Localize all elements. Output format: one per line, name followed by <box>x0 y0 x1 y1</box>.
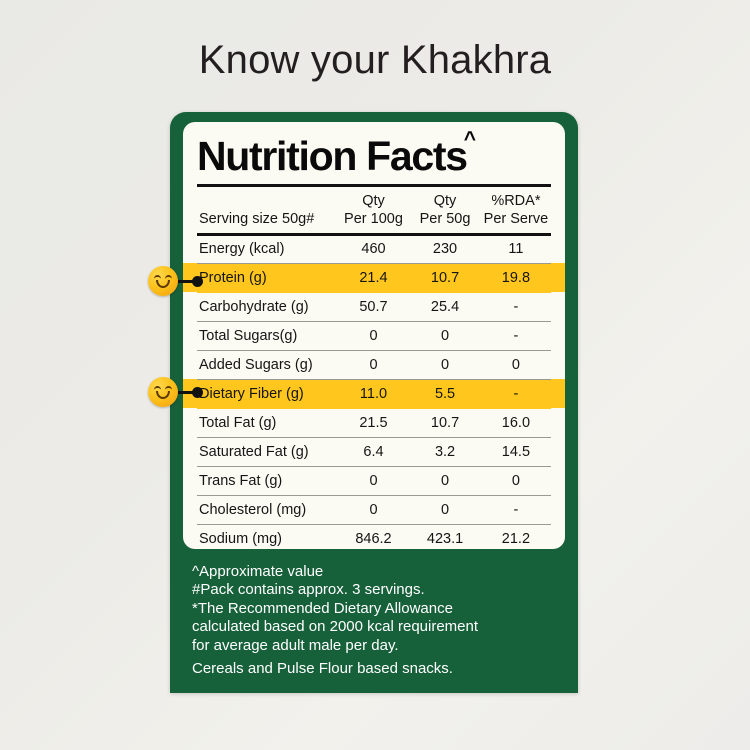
table-row: Carbohydrate (g)50.725.4- <box>197 292 551 321</box>
table-body: Energy (kcal)46023011Protein (g)21.410.7… <box>197 234 551 549</box>
nutrient-value-per-100g: 0 <box>338 495 410 524</box>
serving-size-header: Serving size 50g# <box>197 187 338 234</box>
nutrient-value-per-100g: 21.5 <box>338 408 410 437</box>
nutrient-value-per-100g: 0 <box>338 466 410 495</box>
table-head: Serving size 50g# Qty Per 100g Qty Per 5… <box>197 187 551 234</box>
nutrition-facts-heading: Nutrition Facts^ <box>197 122 551 177</box>
heading-superscript: ^ <box>464 128 476 151</box>
table-row: Sodium (mg)846.2423.121.2 <box>197 524 551 549</box>
emoji-eye-left <box>154 386 161 390</box>
nutrient-value-per-50g: 3.2 <box>409 437 481 466</box>
column-header-per-50g-line2: Per 50g <box>420 211 471 227</box>
footnote-line: *The Recommended Dietary Allowance <box>192 600 564 618</box>
footnote-line: calculated based on 2000 kcal requiremen… <box>192 618 564 636</box>
nutrient-value-rda: 0 <box>481 350 551 379</box>
table-row: Total Fat (g)21.510.716.0 <box>197 408 551 437</box>
nutrient-value-per-50g: 0 <box>409 321 481 350</box>
nutrient-value-rda: - <box>481 321 551 350</box>
column-header-per-100g-line2: Per 100g <box>344 211 403 227</box>
nutrient-value-per-100g: 21.4 <box>338 263 410 292</box>
footnote-line: ^Approximate value <box>192 563 564 581</box>
nutrient-name: Carbohydrate (g) <box>197 292 338 321</box>
callout-connector-dot <box>192 276 203 287</box>
nutrient-value-rda: 19.8 <box>481 263 551 292</box>
nutrient-value-per-100g: 11.0 <box>338 379 410 408</box>
smiling-face-icon <box>148 266 178 296</box>
nutrient-value-per-50g: 25.4 <box>409 292 481 321</box>
column-header-per-50g-line1: Qty <box>409 193 481 211</box>
nutrient-value-per-100g: 846.2 <box>338 524 410 549</box>
emoji-eye-left <box>154 275 161 279</box>
nutrient-name: Dietary Fiber (g) <box>197 379 338 408</box>
page-title: Know your Khakhra <box>0 38 750 83</box>
nutrient-value-rda: - <box>481 495 551 524</box>
footnote-line: #Pack contains approx. 3 servings. <box>192 581 564 599</box>
callout-connector-dot <box>192 387 203 398</box>
footnotes-block: ^Approximate value#Pack contains approx.… <box>192 563 564 679</box>
emoji-mouth <box>156 280 170 288</box>
nutrient-value-per-50g: 0 <box>409 466 481 495</box>
nutrient-value-rda: - <box>481 379 551 408</box>
nutrient-value-per-100g: 0 <box>338 321 410 350</box>
nutrient-value-per-100g: 460 <box>338 234 410 263</box>
column-header-per-100g: Qty Per 100g <box>338 187 410 234</box>
footnote-line: for average adult male per day. <box>192 637 564 655</box>
table-row: Trans Fat (g)000 <box>197 466 551 495</box>
table-header-row: Serving size 50g# Qty Per 100g Qty Per 5… <box>197 187 551 234</box>
nutrient-name: Sodium (mg) <box>197 524 338 549</box>
column-header-per-100g-line1: Qty <box>338 193 410 211</box>
nutrient-name: Total Fat (g) <box>197 408 338 437</box>
footnote-line: Cereals and Pulse Flour based snacks. <box>192 660 564 678</box>
column-header-rda-line1: %RDA* <box>481 193 551 211</box>
nutrient-name: Added Sugars (g) <box>197 350 338 379</box>
table-row: Total Sugars(g)00- <box>197 321 551 350</box>
smiling-face-icon <box>148 377 178 407</box>
nutrient-value-rda: 16.0 <box>481 408 551 437</box>
nutrition-facts-table: Serving size 50g# Qty Per 100g Qty Per 5… <box>197 187 551 549</box>
nutrient-value-rda: 0 <box>481 466 551 495</box>
emoji-mouth <box>156 391 170 399</box>
nutrient-value-rda: - <box>481 292 551 321</box>
column-header-rda-line2: Per Serve <box>484 211 548 227</box>
emoji-eye-right <box>165 386 172 390</box>
nutrient-name: Cholesterol (mg) <box>197 495 338 524</box>
nutrition-facts-heading-text: Nutrition Facts <box>197 133 467 179</box>
table-row: Protein (g)21.410.719.8 <box>197 263 551 292</box>
nutrient-value-per-50g: 0 <box>409 350 481 379</box>
nutrition-facts-panel: Nutrition Facts^ Serving size 50g# Qty P… <box>183 122 565 549</box>
nutrient-value-per-50g: 0 <box>409 495 481 524</box>
nutrient-name: Protein (g) <box>197 263 338 292</box>
nutrient-value-per-100g: 50.7 <box>338 292 410 321</box>
nutrient-name: Trans Fat (g) <box>197 466 338 495</box>
nutrient-value-per-50g: 5.5 <box>409 379 481 408</box>
column-header-per-50g: Qty Per 50g <box>409 187 481 234</box>
callout-fiber <box>148 377 203 407</box>
table-row: Cholesterol (mg)00- <box>197 495 551 524</box>
nutrient-value-per-50g: 423.1 <box>409 524 481 549</box>
nutrient-value-rda: 11 <box>481 234 551 263</box>
nutrient-value-per-50g: 230 <box>409 234 481 263</box>
callout-protein <box>148 266 203 296</box>
table-row: Added Sugars (g)000 <box>197 350 551 379</box>
nutrient-value-per-100g: 0 <box>338 350 410 379</box>
table-row: Energy (kcal)46023011 <box>197 234 551 263</box>
nutrient-value-per-100g: 6.4 <box>338 437 410 466</box>
nutrient-value-per-50g: 10.7 <box>409 263 481 292</box>
nutrient-name: Total Sugars(g) <box>197 321 338 350</box>
nutrient-name: Saturated Fat (g) <box>197 437 338 466</box>
nutrient-value-rda: 14.5 <box>481 437 551 466</box>
emoji-eye-right <box>165 275 172 279</box>
nutrient-value-rda: 21.2 <box>481 524 551 549</box>
nutrient-name: Energy (kcal) <box>197 234 338 263</box>
nutrient-value-per-50g: 10.7 <box>409 408 481 437</box>
table-row: Saturated Fat (g)6.43.214.5 <box>197 437 551 466</box>
table-row: Dietary Fiber (g)11.05.5- <box>197 379 551 408</box>
column-header-rda: %RDA* Per Serve <box>481 187 551 234</box>
